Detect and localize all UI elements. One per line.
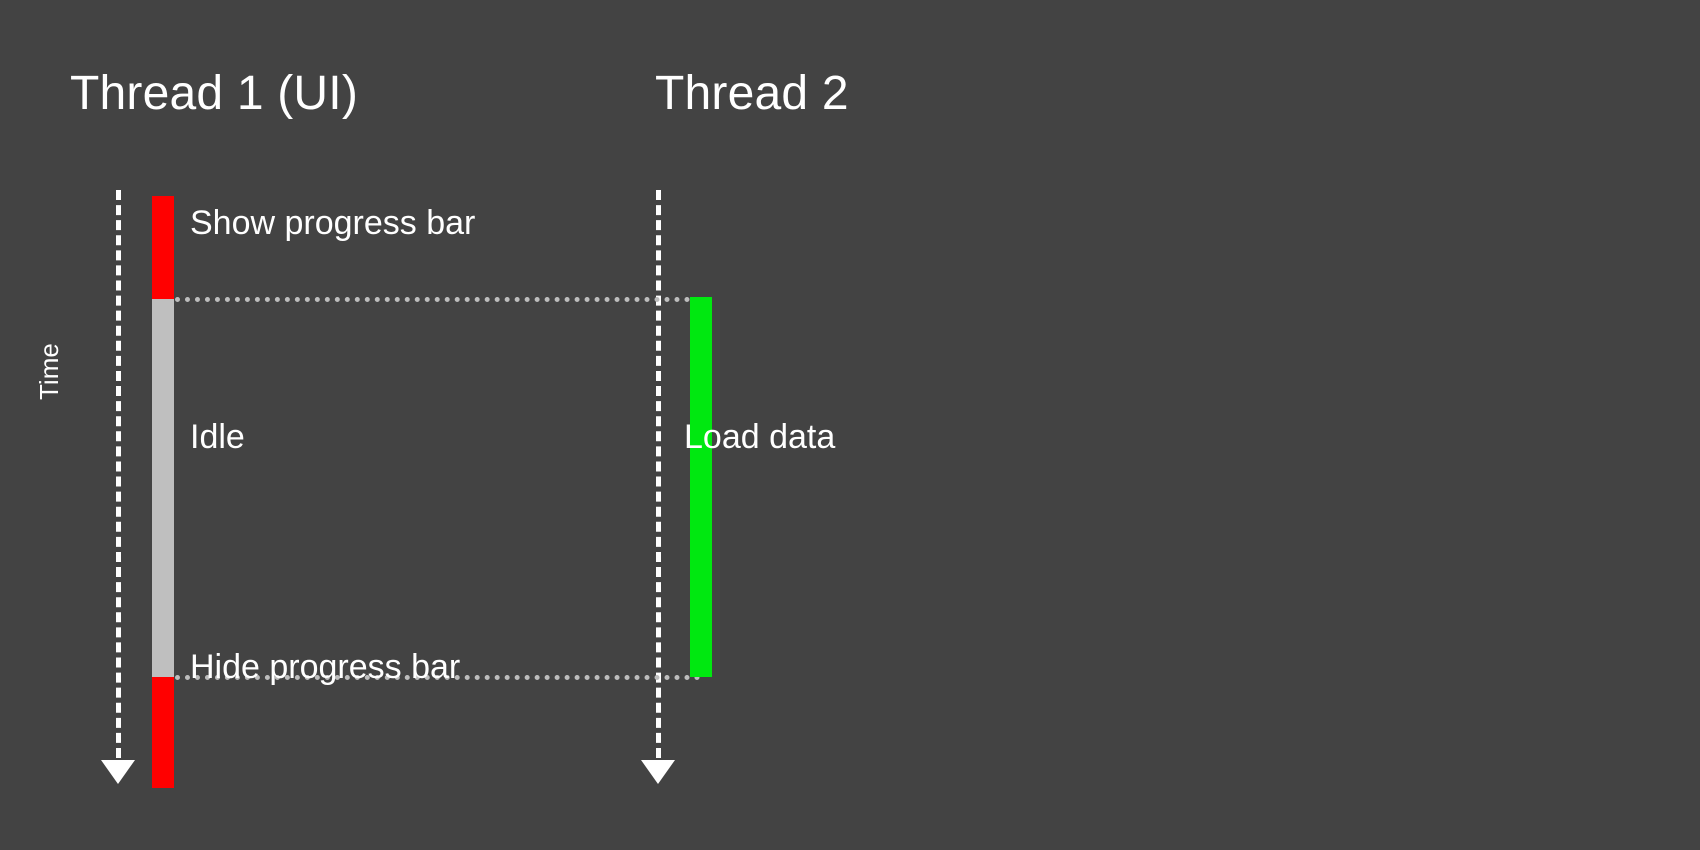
activity-bar-load-data bbox=[690, 297, 712, 677]
handoff-connector-start bbox=[165, 297, 700, 302]
lifeline-thread-1 bbox=[116, 190, 121, 758]
lifeline-thread-2 bbox=[656, 190, 661, 758]
lifeline-arrow-down-icon-thread-1 bbox=[101, 760, 135, 784]
activity-label-hide-progress: Hide progress bar bbox=[190, 650, 460, 684]
activity-bar-show-progress bbox=[152, 196, 174, 299]
lifeline-arrow-down-icon-thread-2 bbox=[641, 760, 675, 784]
activity-bar-hide-progress bbox=[152, 677, 174, 788]
activity-bar-idle bbox=[152, 299, 174, 677]
time-axis-label: Time bbox=[36, 343, 62, 400]
diagram-canvas: Thread 1 (UI) Thread 2 Time Show progres… bbox=[0, 0, 1700, 850]
activity-label-show-progress: Show progress bar bbox=[190, 206, 475, 240]
activity-label-load-data: Load data bbox=[684, 420, 835, 454]
column-header-thread-2: Thread 2 bbox=[655, 70, 849, 118]
column-header-thread-1: Thread 1 (UI) bbox=[70, 70, 358, 118]
activity-label-idle: Idle bbox=[190, 420, 245, 454]
